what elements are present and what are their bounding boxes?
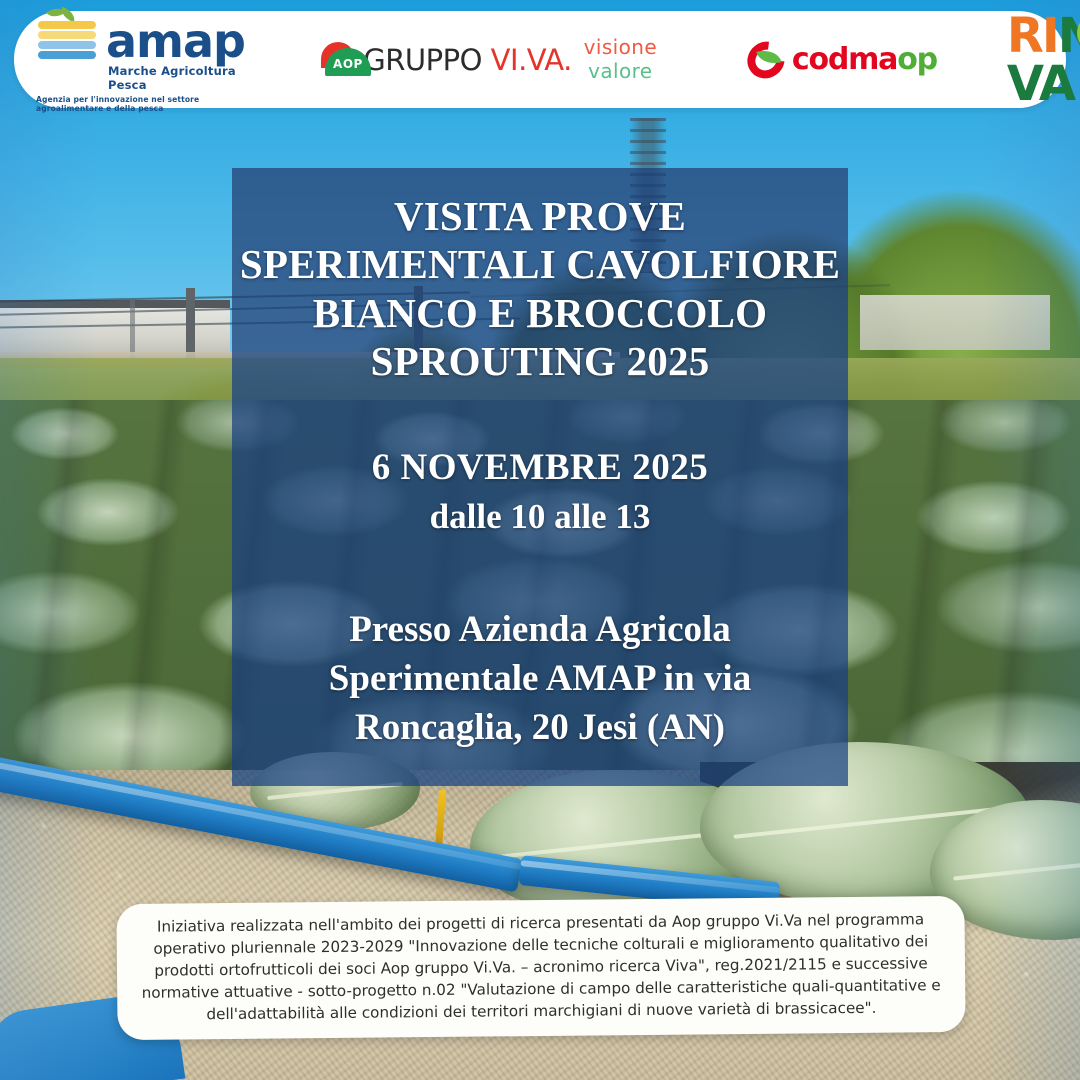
- poster-canvas: VISITA PROVE SPERIMENTALI CAVOLFIORE BIA…: [0, 0, 1080, 1080]
- footer-disclaimer-card: Iniziativa realizzata nell'ambito dei pr…: [116, 896, 965, 1040]
- amap-subtitle: Marche Agricoltura Pesca: [108, 64, 245, 92]
- event-title-line-1: VISITA PROVE: [234, 192, 846, 240]
- amap-wave-icon: [36, 7, 98, 63]
- event-title-line-3: BIANCO E BROCCOLO: [234, 289, 846, 337]
- footer-disclaimer-text: Iniziativa realizzata nell'ambito dei pr…: [132, 909, 949, 1026]
- viva-tagline-visione: visione: [584, 35, 657, 59]
- distant-building: [860, 295, 1050, 350]
- event-date: 6 NOVEMBRE 2025: [372, 446, 708, 490]
- rinova-wordmark: RIN VA: [1007, 12, 1080, 108]
- event-time: dalle 10 alle 13: [372, 496, 708, 538]
- viva-wordmark: GRUPPO VI.VA.: [363, 43, 572, 77]
- logo-codmaop[interactable]: codmaop: [747, 42, 937, 78]
- logo-amap[interactable]: amap Marche Agricoltura Pesca Agenzia pe…: [36, 7, 245, 113]
- logo-gruppo-viva[interactable]: AOP GRUPPO VI.VA. visione valore: [315, 37, 669, 83]
- codmaop-word-op: op: [897, 42, 937, 77]
- codmaop-apple-leaf-icon: [747, 42, 785, 78]
- amap-tagline: Agenzia per l'innovazione nel settore ag…: [36, 95, 245, 113]
- logo-rinova[interactable]: RIN VA gricoltura mbiente limentazione: [1007, 12, 1080, 108]
- amap-wordmark: amap: [106, 20, 245, 62]
- poster-text-block: VISITA PROVE SPERIMENTALI CAVOLFIORE BIA…: [232, 168, 848, 786]
- codmaop-wordmark: codmaop: [792, 42, 937, 77]
- viva-tagline: visione valore: [572, 35, 669, 83]
- event-date-block: 6 NOVEMBRE 2025 dalle 10 alle 13: [372, 446, 708, 538]
- event-title-line-2: SPERIMENTALI CAVOLFIORE: [234, 240, 846, 288]
- event-venue: Presso Azienda Agricola Sperimentale AMA…: [260, 606, 820, 752]
- viva-tagline-valore: valore: [588, 59, 652, 83]
- viva-word-gruppo: GRUPPO: [363, 43, 490, 77]
- partner-logo-bar: amap Marche Agricoltura Pesca Agenzia pe…: [14, 11, 1066, 108]
- aop-badge-label: AOP: [333, 57, 363, 71]
- codmaop-word-codma: codma: [792, 42, 897, 77]
- aop-badge-icon: AOP: [315, 42, 363, 76]
- event-title: VISITA PROVE SPERIMENTALI CAVOLFIORE BIA…: [234, 192, 846, 386]
- viva-word-viva: VI.VA.: [491, 43, 572, 77]
- event-title-line-4: SPROUTING 2025: [234, 337, 846, 385]
